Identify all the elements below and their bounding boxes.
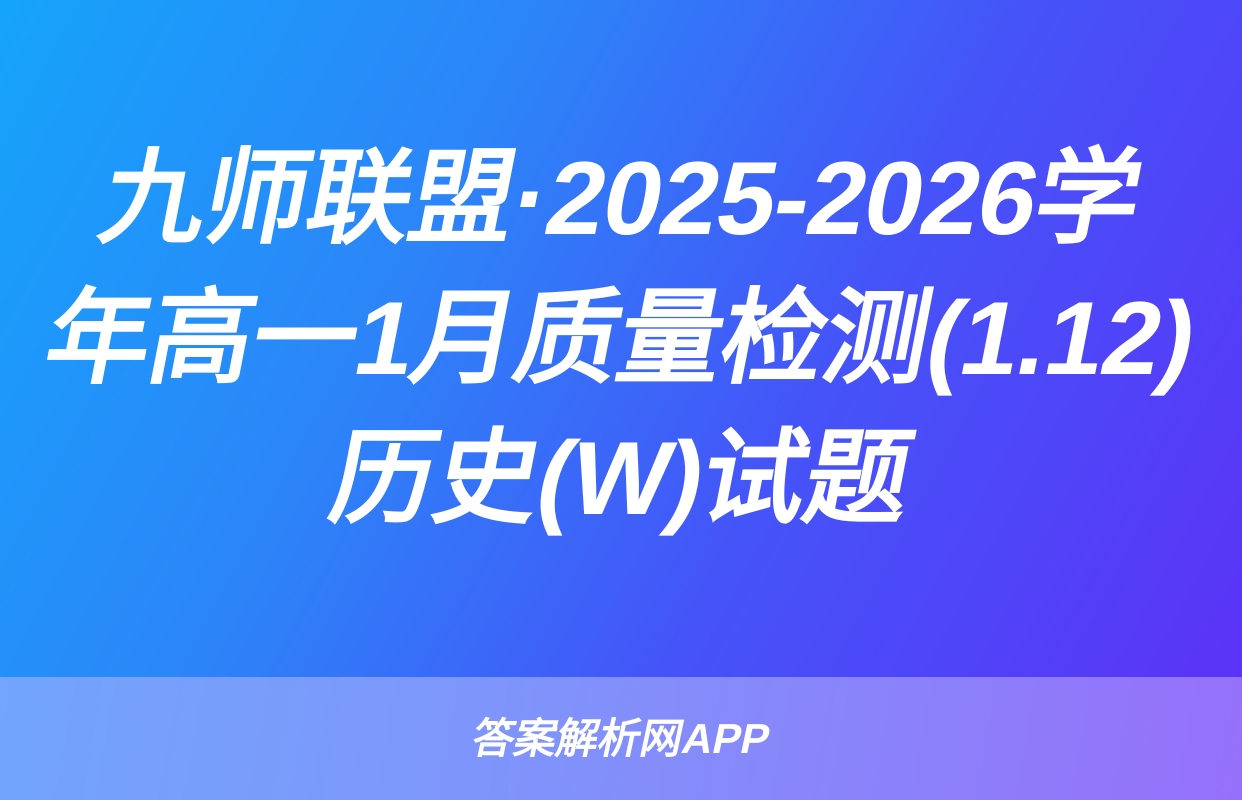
exam-cover-banner: 九师联盟·2025-2026学 年高一1月质量检测(1.12) 历史(W)试题 … <box>0 0 1242 800</box>
exam-title-line-3: 历史(W)试题 <box>14 409 1227 549</box>
app-promo-label: 答案解析网APP <box>468 718 773 760</box>
hero-gradient-panel: 九师联盟·2025-2026学 年高一1月质量检测(1.12) 历史(W)试题 <box>0 0 1242 677</box>
exam-title-line-2: 年高一1月质量检测(1.12) <box>14 269 1227 409</box>
app-promo-footer-band: 答案解析网APP <box>0 677 1242 800</box>
exam-title-line-1: 九师联盟·2025-2026学 <box>14 129 1227 269</box>
exam-title-block: 九师联盟·2025-2026学 年高一1月质量检测(1.12) 历史(W)试题 <box>0 129 1242 549</box>
